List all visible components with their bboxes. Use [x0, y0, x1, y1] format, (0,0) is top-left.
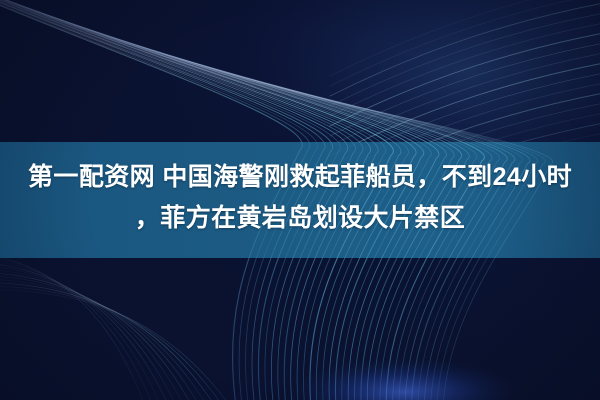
wave-line-lower: [0, 272, 199, 400]
wave-line-lower: [0, 257, 166, 400]
wave-line-lower: [0, 250, 150, 400]
news-banner-image: 第一配资网 中国海警刚救起菲船员，不到24小时 ，菲方在黄岩岛划设大片禁区: [0, 0, 600, 400]
wave-line-lower: [0, 290, 240, 400]
wave-line-lower: [0, 275, 207, 400]
wave-line-lower: [0, 268, 191, 400]
headline-line-1: 第一配资网 中国海警刚救起菲船员，不到24小时: [0, 160, 600, 194]
wave-line-lower: [0, 286, 232, 400]
headline-line-2: ，菲方在黄岩岛划设大片禁区: [0, 201, 600, 235]
wave-line-lower: [0, 279, 215, 400]
wave-line-lower: [0, 282, 224, 400]
